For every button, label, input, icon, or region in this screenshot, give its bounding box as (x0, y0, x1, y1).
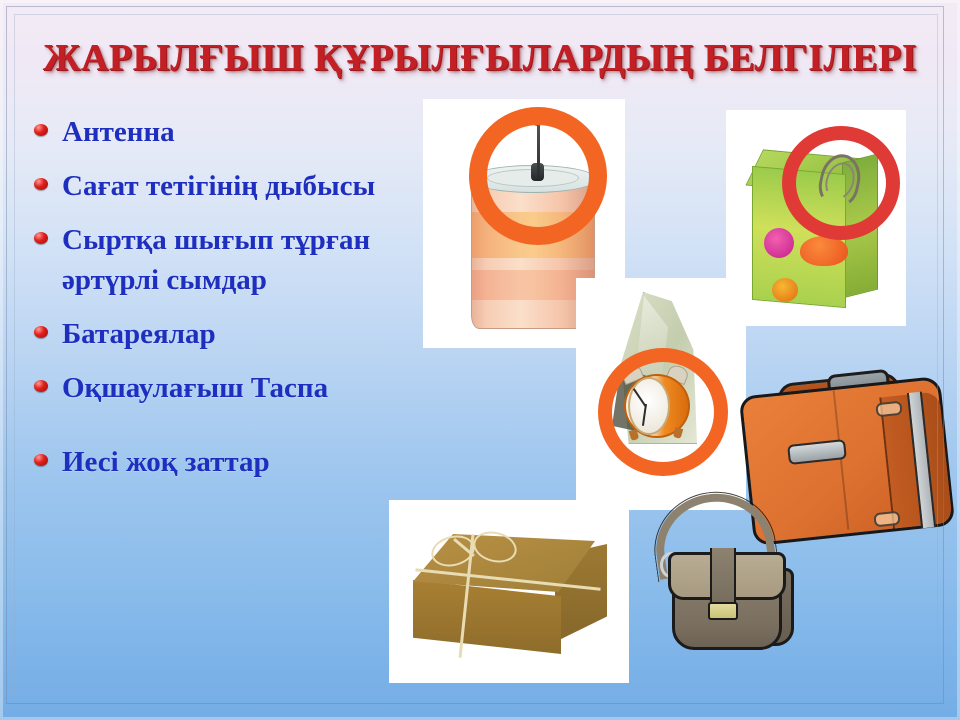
list-item: Сағат тетігінің дыбысы (30, 166, 390, 206)
list-item-label: Оқшаулағыш Таспа (62, 372, 328, 404)
carton-decal-pink (764, 228, 794, 258)
warning-ring-icon (598, 348, 728, 476)
warning-ring-icon (782, 126, 900, 240)
warning-ring-icon (469, 107, 607, 245)
picture-bag-with-alarm-clock (576, 278, 746, 510)
presentation-slide: ЖАРЫЛҒЫШ ҚҰРЫЛҒЫЛАРДЫҢ БЕЛГІЛЕРІ Антенна… (0, 0, 960, 720)
list-item-label: Сыртқа шығып тұрған әртүрлі сымдар (62, 224, 370, 296)
bullet-dot-icon (34, 178, 48, 190)
list-item-label: Сағат тетігінің дыбысы (62, 170, 375, 202)
bullet-dot-icon (34, 326, 48, 338)
picture-shoulder-handbag (638, 490, 828, 690)
page-title: ЖАРЫЛҒЫШ ҚҰРЫЛҒЫЛАРДЫҢ БЕЛГІЛЕРІ (0, 36, 960, 80)
parcel-front-face (413, 580, 561, 654)
list-item: Иесі жоқ заттар (30, 442, 390, 482)
picture-wrapped-parcel (389, 500, 629, 683)
list-item-label: Антенна (62, 116, 175, 148)
list-item: Оқшаулағыш Таспа (30, 368, 390, 408)
list-item: Сыртқа шығып тұрған әртүрлі сымдар (30, 220, 390, 300)
carton-decal-fruit (800, 236, 848, 266)
handbag-buckle (708, 602, 738, 620)
list-item-label: Батареялар (62, 318, 216, 350)
handbag-center-strap (710, 548, 736, 610)
bullet-list: Антенна Сағат тетігінің дыбысы Сыртқа шы… (30, 112, 390, 496)
list-item: Антенна (30, 112, 390, 152)
carton-decal-orange (772, 278, 798, 302)
picture-juice-carton-with-wire (726, 110, 906, 326)
bullet-dot-icon (34, 124, 48, 136)
list-item-label: Иесі жоқ заттар (62, 446, 270, 478)
bullet-dot-icon (34, 454, 48, 466)
bullet-dot-icon (34, 232, 48, 244)
bullet-dot-icon (34, 380, 48, 392)
list-item: Батареялар (30, 314, 390, 354)
